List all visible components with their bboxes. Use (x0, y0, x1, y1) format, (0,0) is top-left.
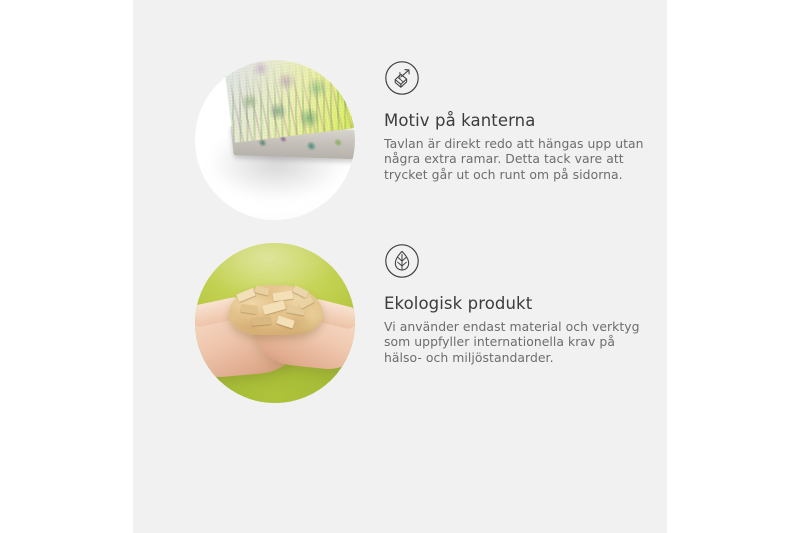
canvas-block (222, 60, 355, 203)
feature-text-block: Motiv på kanterna Tavlan är direkt redo … (384, 60, 660, 182)
feature-title: Motiv på kanterna (384, 111, 660, 131)
product-feature-banner: Motiv på kanterna Tavlan är direkt redo … (0, 0, 800, 533)
hands-holding-wood-chips-photo (195, 243, 355, 403)
canvas-edge-print-icon (384, 60, 420, 96)
wood-chips-pile (229, 285, 323, 335)
feature-text-block: Ekologisk produkt Vi använder endast mat… (384, 243, 660, 365)
leaf-icon (384, 243, 420, 279)
content-panel: Motiv på kanterna Tavlan är direkt redo … (133, 0, 667, 533)
feature-description: Vi använder endast material och verktyg … (384, 319, 652, 365)
canvas-corner-photo (195, 60, 355, 220)
canvas-printed-face (218, 60, 355, 143)
feature-description: Tavlan är direkt redo att hängas upp uta… (384, 136, 652, 182)
feature-title: Ekologisk produkt (384, 294, 660, 314)
